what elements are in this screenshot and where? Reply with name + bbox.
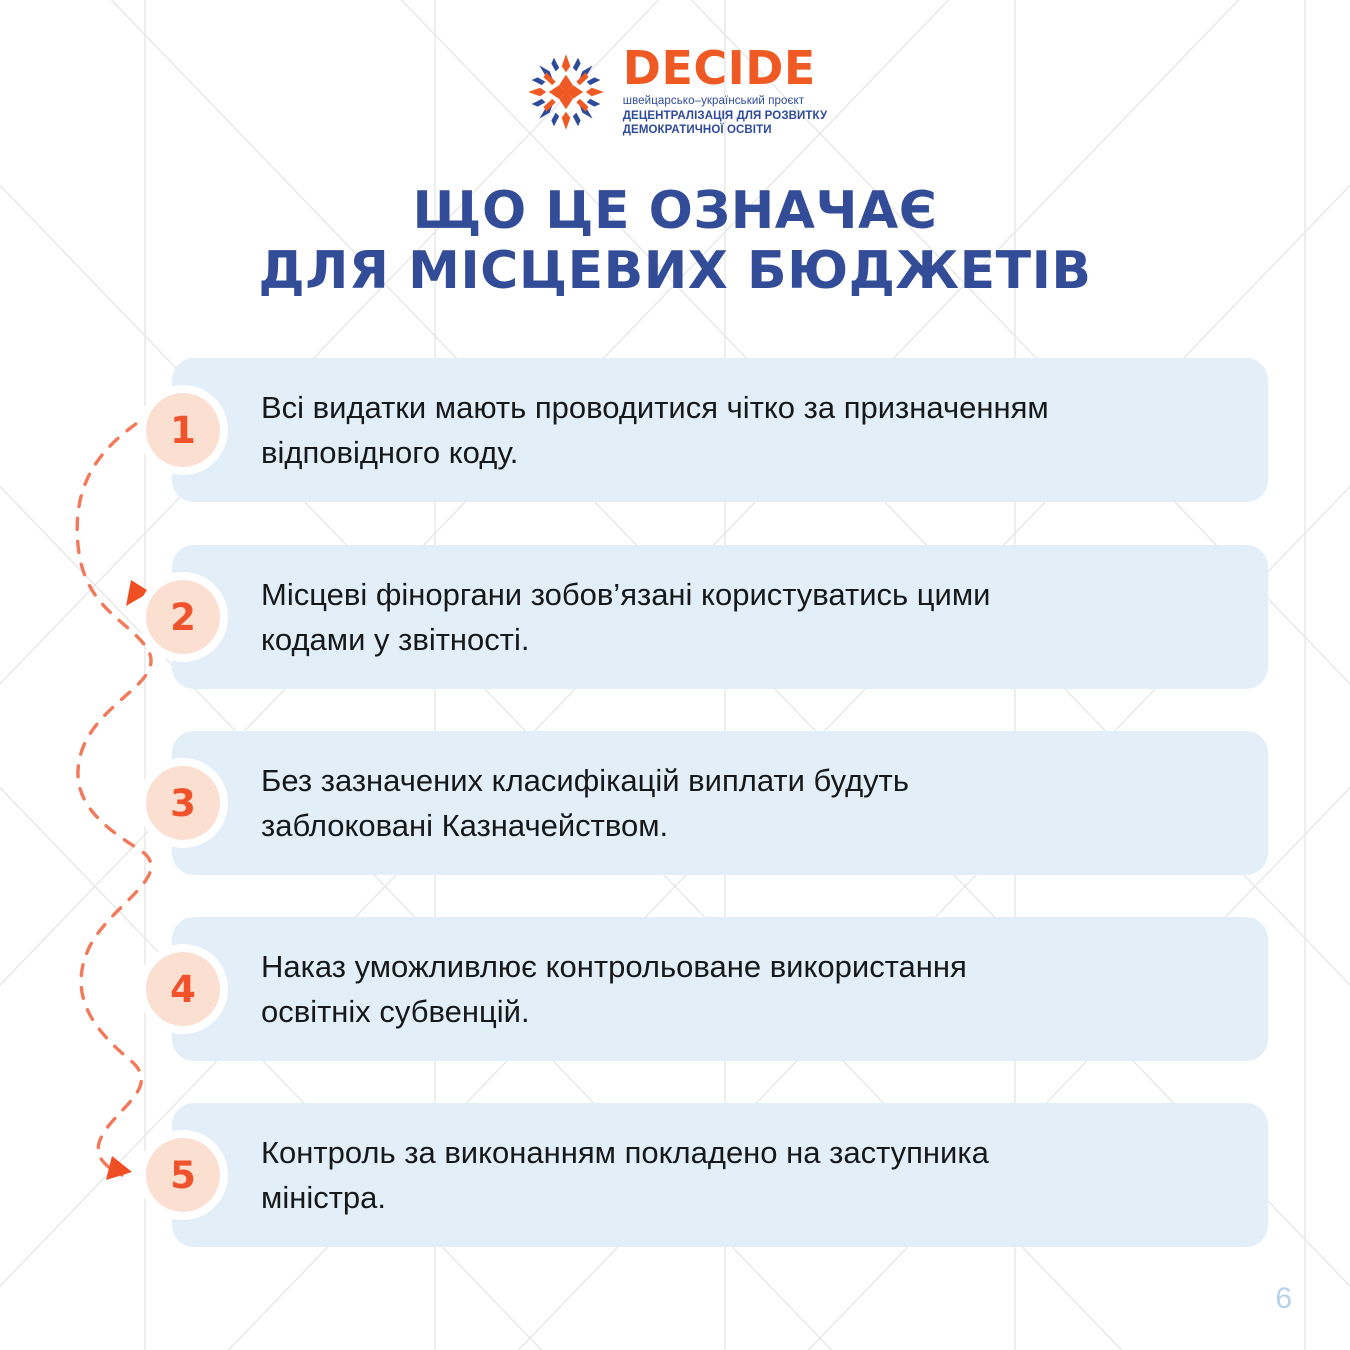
list-item-text: Без зазначених класифікацій виплати буду… xyxy=(261,758,1211,849)
numbered-list: 1 Всі видатки мають проводитися чітко за… xyxy=(0,0,1350,1350)
list-item-number-badge: 5 xyxy=(146,1138,220,1212)
list-item[interactable]: 5 Контроль за виконанням покладено на за… xyxy=(130,1103,1268,1247)
list-item-text: Контроль за виконанням покладено на заст… xyxy=(261,1130,1211,1221)
list-item-text: Наказ уможливлює контрольоване використа… xyxy=(261,944,1211,1035)
page-number: 6 xyxy=(1275,1284,1292,1314)
list-item-number-badge: 3 xyxy=(146,766,220,840)
list-item[interactable]: 3 Без зазначених класифікацій виплати бу… xyxy=(130,731,1268,875)
list-item-text: Всі видатки мають проводитися чітко за п… xyxy=(261,385,1211,476)
list-item[interactable]: 4 Наказ уможливлює контрольоване викорис… xyxy=(130,917,1268,1061)
list-item-text: Місцеві фіноргани зобов’язані користуват… xyxy=(261,572,1211,663)
list-item-number-badge: 4 xyxy=(146,952,220,1026)
list-item[interactable]: 2 Місцеві фіноргани зобов’язані користув… xyxy=(130,545,1268,689)
list-item-number-badge: 2 xyxy=(146,580,220,654)
slide-canvas: DECIDE швейцарсько–український проєкт ДЕ… xyxy=(0,0,1350,1350)
list-item-number-badge: 1 xyxy=(146,393,220,467)
list-item[interactable]: 1 Всі видатки мають проводитися чітко за… xyxy=(130,358,1268,502)
